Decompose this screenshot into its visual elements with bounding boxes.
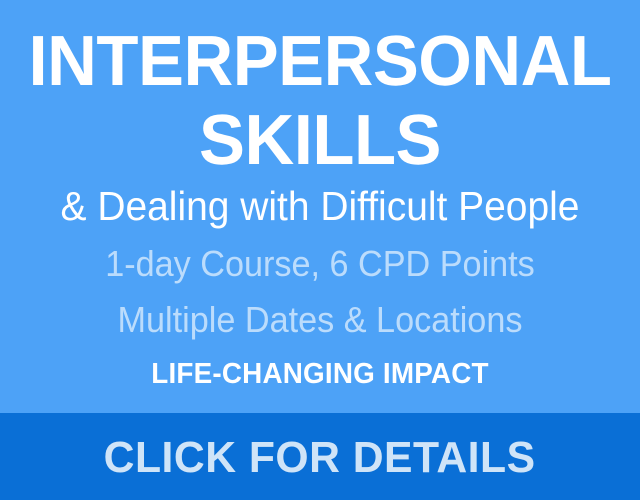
kicker-tagline: LIFE-CHANGING IMPACT [13, 360, 627, 389]
subtitle: & Dealing with Difficult People [16, 186, 624, 227]
headline-line-1: INTERPERSONAL [10, 26, 631, 97]
course-advertisement-banner[interactable]: INTERPERSONAL SKILLS & Dealing with Diff… [0, 0, 640, 500]
cta-label: CLICK FOR DETAILS [104, 436, 536, 480]
headline-line-2: SKILLS [10, 105, 631, 176]
cta-button[interactable]: CLICK FOR DETAILS [0, 413, 640, 500]
detail-line-dates-locations: Multiple Dates & Locations [16, 302, 624, 338]
promo-content-area: INTERPERSONAL SKILLS & Dealing with Diff… [0, 0, 640, 413]
detail-line-course-info: 1-day Course, 6 CPD Points [16, 246, 624, 282]
